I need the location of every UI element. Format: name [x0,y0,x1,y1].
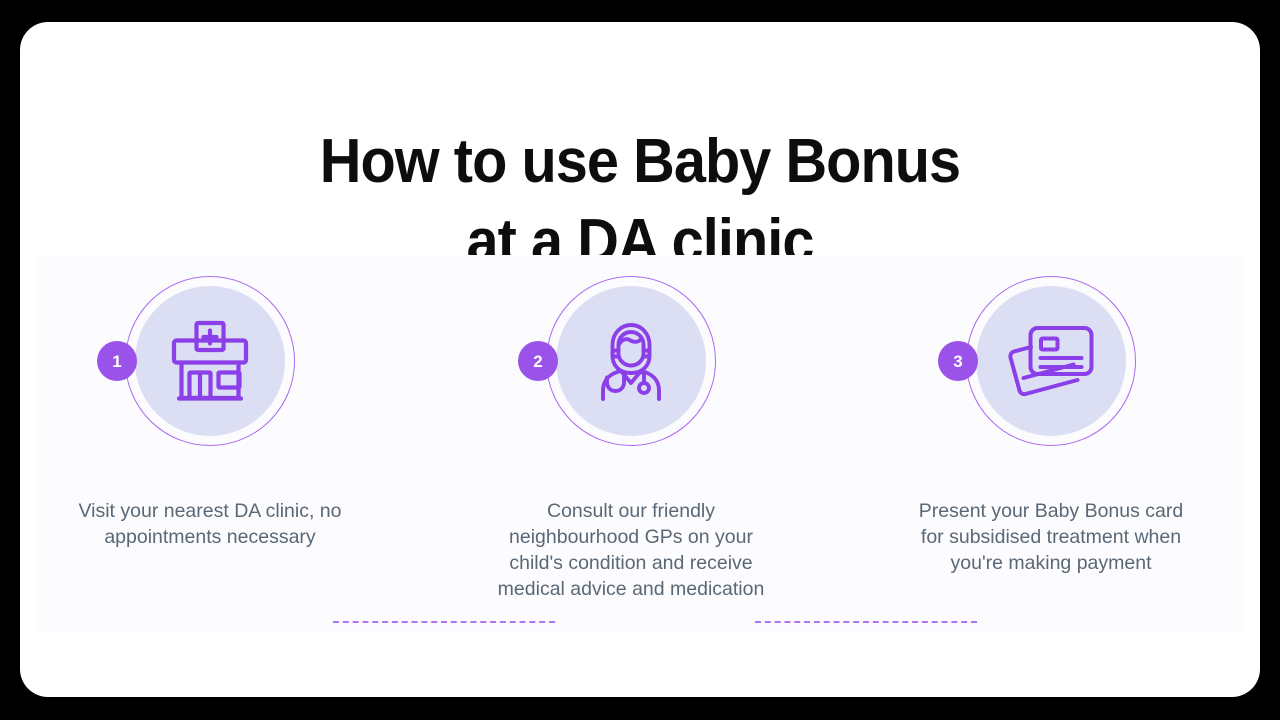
step-3-caption: Present your Baby Bonus card for subsidi… [851,498,1251,576]
title-line-1: How to use Baby Bonus [320,127,960,196]
step-1-disc [135,286,285,436]
step-1-caption: Visit your nearest DA clinic, no appoint… [20,498,410,550]
step-1-icon-area: 1 [20,255,410,467]
doctor-stethoscope-icon [581,311,681,411]
step-1-caption-line-2: appointments necessary [20,524,410,550]
step-1-number: 1 [112,353,121,370]
step-2-caption: Consult our friendly neighbourhood GPs o… [431,498,831,602]
screenshot-stage: How to use Baby Bonus at a DA clinic [0,0,1280,720]
clinic-building-icon [161,312,259,410]
step-item-2: 2 Consult our friendly neighbourhood GPs… [431,255,831,467]
step-3-caption-line-3: you're making payment [851,550,1251,576]
step-2-icon-area: 2 [431,255,831,467]
step-2-number: 2 [533,353,542,370]
step-1-caption-line-1: Visit your nearest DA clinic, no [20,498,410,524]
step-3-disc [976,286,1126,436]
step-3-caption-line-2: for subsidised treatment when [851,524,1251,550]
connector-step-1-to-2 [333,621,555,623]
step-3-icon-area: 3 [851,255,1251,467]
infographic-card: How to use Baby Bonus at a DA clinic [20,22,1260,697]
payment-cards-icon [1001,315,1101,407]
step-2-caption-line-1: Consult our friendly [431,498,831,524]
step-2-number-badge: 2 [518,341,558,381]
step-2-caption-line-3: child's condition and receive [431,550,831,576]
step-item-1: 1 Visit your nearest DA clinic, no appoi… [20,255,410,467]
step-3-number: 3 [953,353,962,370]
step-2-caption-line-4: medical advice and medication [431,576,831,602]
step-3-number-badge: 3 [938,341,978,381]
step-2-caption-line-2: neighbourhood GPs on your [431,524,831,550]
step-3-caption-line-1: Present your Baby Bonus card [851,498,1251,524]
steps-container: 1 Visit your nearest DA clinic, no appoi… [20,255,1260,655]
connector-step-2-to-3 [755,621,977,623]
step-2-disc [556,286,706,436]
step-1-number-badge: 1 [97,341,137,381]
step-item-3: 3 Present your Baby Bonus card for subsi… [851,255,1251,467]
